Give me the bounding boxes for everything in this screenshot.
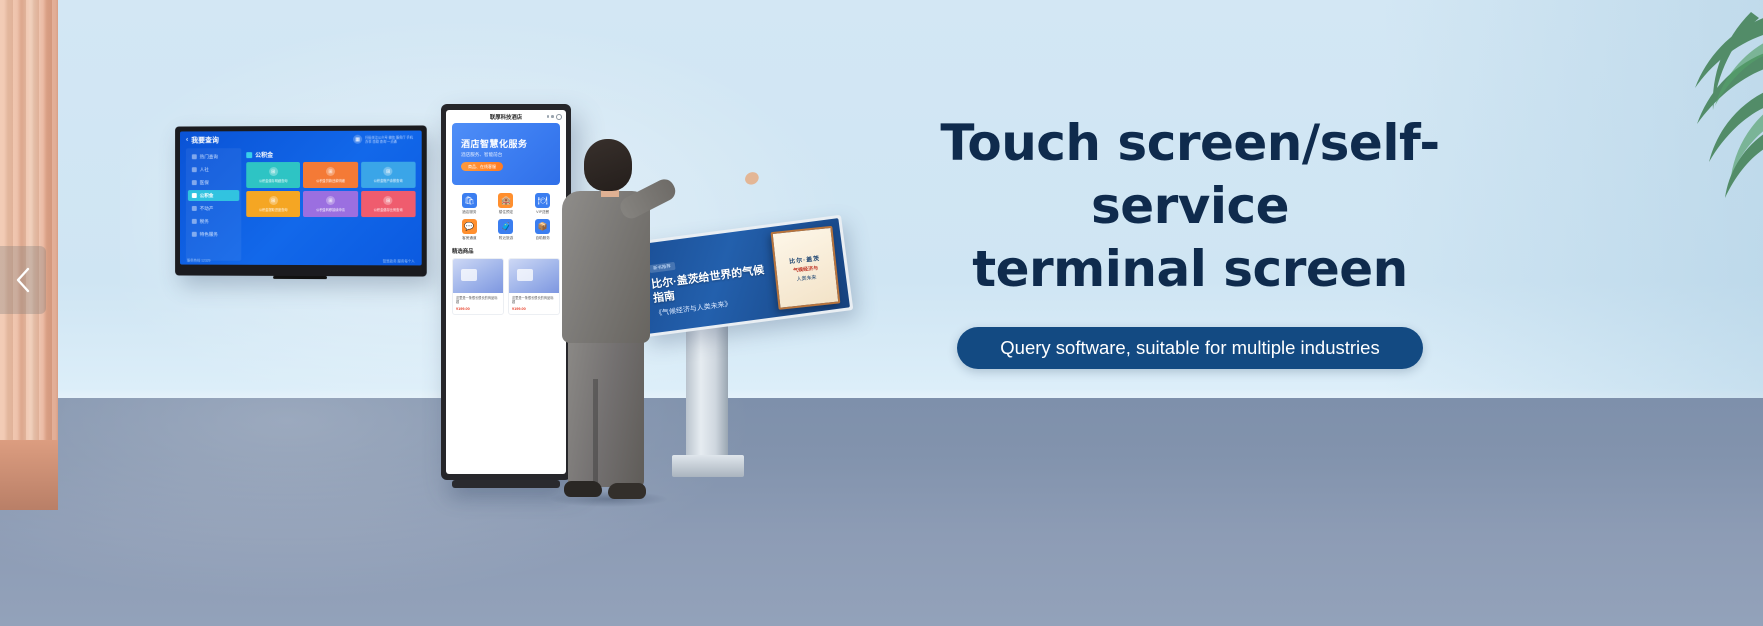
doc-icon: ⊞: [326, 167, 335, 176]
kiosk-icon-item[interactable]: 🧳 附近旅游: [489, 219, 524, 241]
person-head: [584, 139, 632, 191]
sidebar-item-special[interactable]: 特色服务: [188, 229, 239, 240]
tv-tile[interactable]: ⊞ 公积金贷款还款明细: [303, 162, 357, 188]
doc-icon: ⊞: [384, 196, 393, 205]
sidebar-item-tax[interactable]: 税务: [188, 216, 239, 227]
luggage-icon: 🧳: [498, 219, 513, 234]
kiosk-base: [452, 480, 560, 488]
hero-banner: ‹ 我要查询 ▦ 扫码关注公众号 微信 服务厅 手机 办事 自助 查询 一点通 …: [0, 0, 1763, 626]
table-base: [672, 455, 744, 477]
kiosk-icon-item[interactable]: 🏨 楼住预定: [489, 193, 524, 215]
kiosk-header: 联厚科技酒店: [446, 110, 566, 123]
cross-icon: [192, 180, 197, 185]
qr-code-icon: ▦: [353, 135, 362, 144]
book-title-line1: 气候经济与: [793, 264, 819, 274]
wall-tv[interactable]: ‹ 我要查询 ▦ 扫码关注公众号 微信 服务厅 手机 办事 自助 查询 一点通 …: [175, 125, 427, 276]
tv-main: 公积金 ⊞ 公积金缴存明细查询 ⊞ 公积金贷款还款明细 ⊞: [246, 148, 415, 262]
house-icon: [192, 206, 197, 211]
headline-line-1: Touch screen/self-service: [940, 114, 1439, 235]
tax-icon: [192, 219, 197, 224]
back-chevron-icon: ‹: [186, 136, 188, 143]
tv-footer-right: 智慧政务 服务每个人: [383, 258, 415, 263]
shopping-basket-icon: 🛍: [462, 193, 477, 208]
carousel-prev-button[interactable]: [0, 246, 46, 314]
tv-sidebar: 热门查询 人社 医保 公积金: [186, 148, 241, 261]
tv-tile[interactable]: ⊞ 公积金提取进度查询: [246, 191, 300, 217]
doc-icon: ⊞: [269, 167, 278, 176]
star-icon: [192, 232, 197, 237]
sidebar-item-hot[interactable]: 热门查询: [188, 151, 239, 162]
tile-label: 公积金贷款还款明细: [316, 178, 345, 183]
tile-label: 公积金转移接续申请: [316, 207, 345, 212]
tv-qr-block: ▦ 扫码关注公众号 微信 服务厅 手机 办事 自助 查询 一点通: [353, 135, 416, 144]
bank-icon: [192, 193, 197, 198]
tv-header: ‹ 我要查询 ▦ 扫码关注公众号 微信 服务厅 手机 办事 自助 查询 一点通: [180, 131, 422, 149]
kiosk-header-actions[interactable]: [547, 114, 562, 120]
book-author: 比尔·盖茨: [789, 253, 821, 265]
kiosk-icon-label: 客房通道: [462, 236, 476, 241]
tv-section-label: 公积金: [255, 150, 273, 159]
sidebar-label: 公积金: [200, 193, 214, 199]
menu-dot-icon: [547, 115, 550, 118]
tv-tile[interactable]: ⊞ 公积金缴存比例查询: [361, 191, 416, 217]
tv-qr-caption: 扫码关注公众号 微信 服务厅 手机 办事 自助 查询 一点通: [365, 135, 415, 143]
tv-tile-grid: ⊞ 公积金缴存明细查询 ⊞ 公积金贷款还款明细 ⊞ 公积金账户余额查询 ⊞: [246, 162, 415, 217]
product-card[interactable]: 这里是一条很长很长的商品标题 ¥199.00: [452, 258, 504, 315]
hotel-icon: 🏨: [498, 193, 513, 208]
chevron-left-icon: [14, 266, 32, 294]
kiosk-title: 联厚科技酒店: [490, 113, 522, 121]
tile-label: 公积金账户余额查询: [374, 178, 403, 183]
sidebar-label: 特色服务: [200, 231, 218, 237]
kiosk-icon-label: 附近旅游: [499, 236, 513, 241]
product-desc: 这里是一条很长很长的商品标题: [453, 293, 503, 306]
tile-label: 公积金提取进度查询: [259, 207, 288, 212]
tile-label: 公积金缴存比例查询: [374, 207, 403, 212]
person-using-kiosk: [546, 139, 664, 511]
tv-tile[interactable]: ⊞ 公积金缴存明细查询: [246, 162, 300, 188]
book-cover: 比尔·盖茨 气候经济与 人类未来: [771, 226, 841, 310]
tv-stand: [273, 276, 327, 279]
sidebar-label: 人社: [200, 167, 209, 173]
tile-label: 公积金缴存明细查询: [259, 178, 288, 183]
doc-icon: ⊞: [384, 167, 393, 176]
tv-body: 热门查询 人社 医保 公积金: [180, 148, 422, 266]
product-price: ¥199.00: [453, 306, 503, 314]
cta-button[interactable]: Query software, suitable for multiple in…: [957, 327, 1423, 369]
curtain: [0, 0, 58, 470]
banner-copy: Touch screen/self-service terminal scree…: [905, 112, 1475, 369]
kiosk-hero-banner[interactable]: 酒店智慧化服务 酒店服务、智能前台 商品、在线客服: [452, 123, 560, 185]
chat-icon: 💬: [462, 219, 477, 234]
book-title-line2: 人类未来: [796, 273, 817, 282]
sidebar-item-hr[interactable]: 人社: [188, 164, 239, 175]
person-shoe-right: [608, 483, 646, 499]
headline-line-2: terminal screen: [972, 240, 1408, 298]
kiosk-hero-cta[interactable]: 商品、在线客服: [461, 162, 503, 171]
people-icon: [192, 167, 197, 172]
sidebar-label: 不动产: [200, 205, 214, 211]
sidebar-label: 医保: [200, 180, 209, 186]
sidebar-item-realestate[interactable]: 不动产: [188, 203, 239, 214]
sidebar-label: 热门查询: [200, 154, 218, 160]
menu-dot-icon: [551, 115, 554, 118]
tv-back-button[interactable]: ‹ 我要查询: [186, 135, 219, 145]
person-leg-gap: [593, 379, 598, 487]
doc-icon: ⊞: [326, 196, 335, 205]
gear-icon[interactable]: [556, 114, 562, 120]
fire-icon: [192, 154, 197, 159]
tv-tile[interactable]: ⊞ 公积金转移接续申请: [303, 191, 357, 217]
tv-tile[interactable]: ⊞ 公积金账户余额查询: [361, 162, 416, 188]
tv-screen: ‹ 我要查询 ▦ 扫码关注公众号 微信 服务厅 手机 办事 自助 查询 一点通 …: [180, 131, 422, 266]
doc-icon: ⊞: [269, 196, 278, 205]
page-title: Touch screen/self-service terminal scree…: [905, 112, 1475, 301]
sidebar-item-fund[interactable]: 公积金: [188, 190, 239, 201]
kiosk-icon-item[interactable]: 🛍 酒店服务: [452, 193, 487, 215]
sidebar-item-medical[interactable]: 医保: [188, 177, 239, 188]
bank-section-icon: [246, 152, 252, 158]
tv-footer-left: 服务热线 12329: [187, 258, 211, 263]
curtain-base: [0, 440, 58, 510]
kiosk-icon-item[interactable]: 💬 客房通道: [452, 219, 487, 241]
kiosk-icon-label: 楼住预定: [499, 210, 513, 215]
kiosk-icon-label: 酒店服务: [462, 210, 476, 215]
tv-section-title: 公积金: [246, 148, 415, 159]
tv-back-label: 我要查询: [191, 135, 219, 145]
person-legs: [568, 337, 644, 487]
sidebar-label: 税务: [200, 218, 209, 224]
tv-footer: 服务热线 12329 智慧政务 服务每个人: [180, 256, 422, 266]
person-shoe-left: [564, 481, 602, 497]
product-image: [453, 259, 503, 293]
